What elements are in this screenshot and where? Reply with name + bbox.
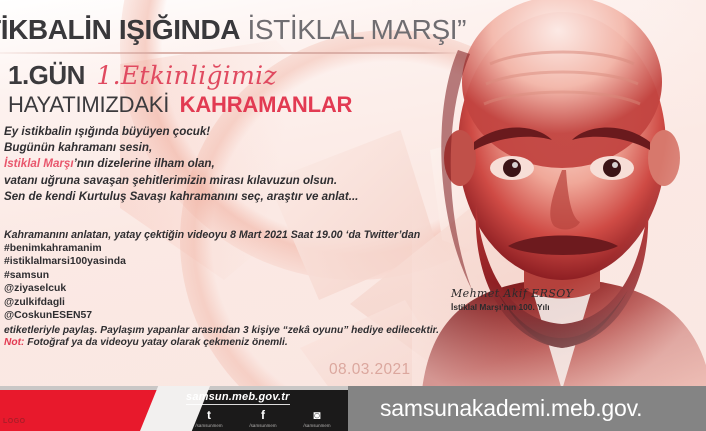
note-text: Fotoğraf ya da videoyu yatay olarak çekm… xyxy=(27,337,287,348)
body-line: Bugünün kahramanı sesin, xyxy=(4,140,444,156)
mehmet-akif-ersoy-portrait xyxy=(412,0,706,386)
title-bold-part: TİKBALİN IŞIĞINDA xyxy=(0,14,240,45)
note-label: Not: xyxy=(4,337,24,348)
body-line: vatanı uğruna savaşan şehitlerimizin mir… xyxy=(4,173,444,189)
instagram-icon: ◙ xyxy=(298,409,336,422)
body-line-accented: İstiklal Marşı’nın dizelerine ilham olan… xyxy=(4,156,444,172)
heroes-prefix: HAYATIMIZDAKİ xyxy=(8,92,169,117)
facebook-handle: /samsunmem xyxy=(244,423,282,428)
footer-logo-text: LOGO xyxy=(3,418,26,425)
hashtag-item: #benimkahramanim xyxy=(4,242,444,255)
hashtag-item: #samsun xyxy=(4,269,444,282)
poster-canvas: TİKBALİN IŞIĞINDA İSTİKLAL MARŞI” 1.GÜN … xyxy=(0,0,706,431)
footer-grey-panel: samsunakademi.meb.gov. xyxy=(348,386,706,431)
body-line: Ey istikbalin ışığında büyüyen çocuk! xyxy=(4,124,444,140)
date-stamp: 08.03.2021 xyxy=(329,361,411,379)
social-link-facebook[interactable]: f /samsunmem xyxy=(244,409,282,428)
day-number: 1.GÜN xyxy=(8,60,85,90)
signature-subtitle: İstiklal Marşı’nın 100. Yılı xyxy=(451,302,573,312)
twitter-icon: t xyxy=(190,409,228,422)
hashtag-block: Kahramanını anlatan, yatay çektiğin vide… xyxy=(4,228,444,338)
mention-item: @zulkifdagli xyxy=(4,296,444,309)
mention-item: @CoskunESEN57 xyxy=(4,309,444,322)
facebook-icon: f xyxy=(244,409,282,422)
title-divider xyxy=(0,52,461,54)
day-script-label: 1.Etkinliğimiz xyxy=(96,61,276,90)
hashtag-intro: Kahramanını anlatan, yatay çektiğin vide… xyxy=(4,228,444,242)
heroes-heading: HAYATIMIZDAKİ KAHRAMANLAR xyxy=(8,94,352,116)
footer-akademi-link[interactable]: samsunakademi.meb.gov. xyxy=(380,395,642,422)
footer-website-link[interactable]: samsun.meb.gov.tr xyxy=(186,391,290,405)
portrait-container xyxy=(406,0,706,386)
body-paragraph: Ey istikbalin ışığında büyüyen çocuk! Bu… xyxy=(4,124,444,205)
body-accent-word: İstiklal Marşı xyxy=(4,157,74,170)
twitter-handle: /samsunmem xyxy=(190,423,228,428)
social-link-instagram[interactable]: ◙ /samsunmem xyxy=(298,409,336,428)
note-line: Not: Fotoğraf ya da videoyu yatay olarak… xyxy=(4,337,288,348)
mention-item: @ziyaselcuk xyxy=(4,282,444,295)
title-light-part: İSTİKLAL MARŞI” xyxy=(247,14,466,45)
social-link-twitter[interactable]: t /samsunmem xyxy=(190,409,228,428)
social-links-row: t /samsunmem f /samsunmem ◙ /samsunmem xyxy=(190,409,340,428)
poster-title: TİKBALİN IŞIĞINDA İSTİKLAL MARŞI” xyxy=(0,16,464,44)
footer-bar: LOGO samsun.meb.gov.tr t /samsunmem f /s… xyxy=(0,386,706,431)
signature-name: Mehmet Akif ERSOY xyxy=(451,287,573,300)
body-accent-rest: ’nın dizelerine ilham olan, xyxy=(74,157,215,170)
heroes-highlight: KAHRAMANLAR xyxy=(180,92,353,117)
day-heading: 1.GÜN 1.Etkinliğimiz xyxy=(8,62,277,88)
signature-block: Mehmet Akif ERSOY İstiklal Marşı’nın 100… xyxy=(451,287,573,312)
hashtag-item: #istiklalmarsi100yasinda xyxy=(4,255,444,268)
instagram-handle: /samsunmem xyxy=(298,423,336,428)
body-line: Sen de kendi Kurtuluş Savaşı kahramanını… xyxy=(4,189,444,205)
